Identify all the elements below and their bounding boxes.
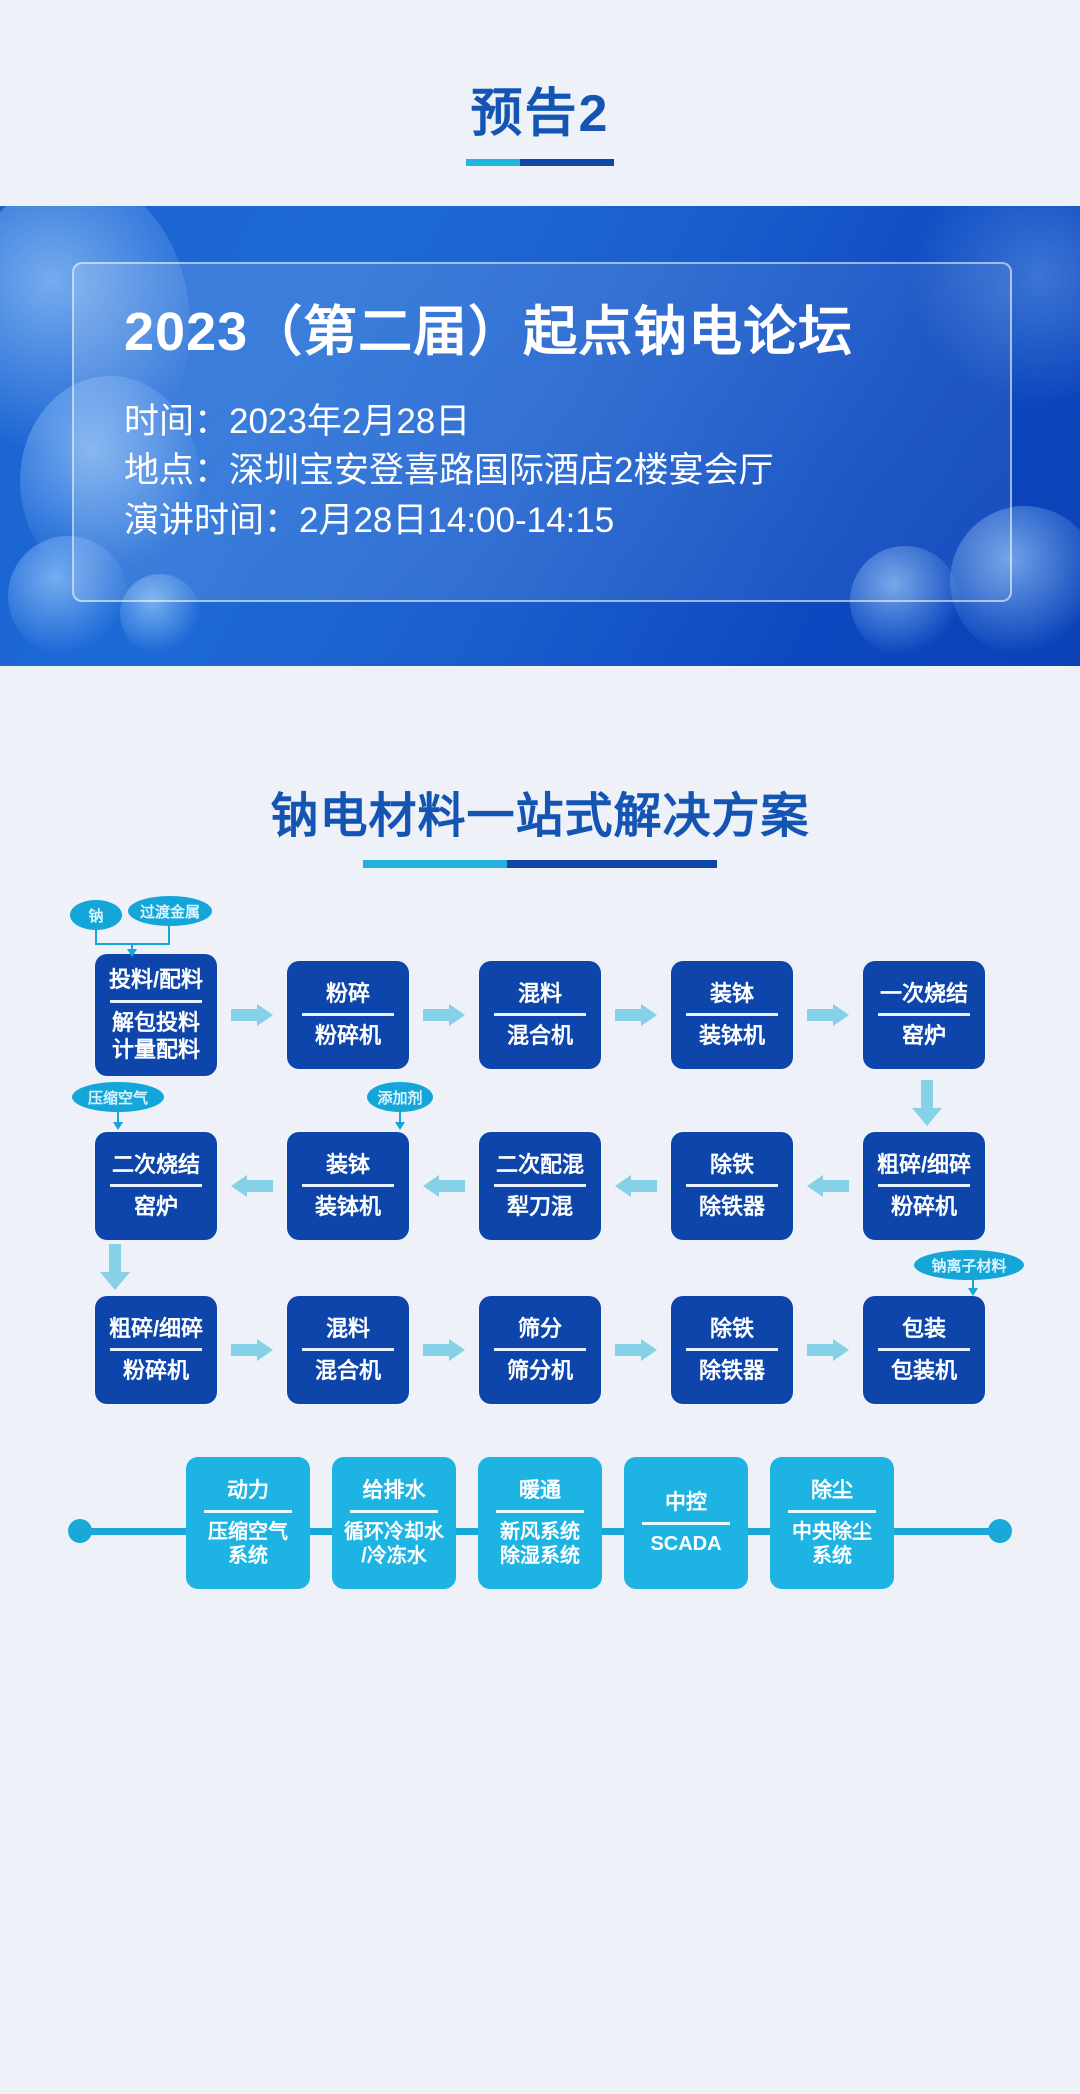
pill-sodium: 钠 <box>70 900 122 930</box>
section-title: 钠电材料一站式解决方案 <box>0 776 1080 846</box>
node-subtitle: 粉碎机 <box>891 1194 957 1220</box>
flow-node-second-sintering[interactable]: 二次烧结 窑炉 <box>95 1132 217 1240</box>
node-title: 混料 <box>326 1316 370 1342</box>
node-title: 二次配混 <box>496 1152 584 1178</box>
node-title: 粉碎 <box>326 981 370 1007</box>
event-banner: 2023（第二届）起点钠电论坛 时间：2023年2月28日 地点：深圳宝安登喜路… <box>0 206 1080 666</box>
node-subtitle: 除铁器 <box>699 1358 765 1384</box>
flow-node-sieving[interactable]: 筛分 筛分机 <box>479 1296 601 1404</box>
node-divider <box>110 1348 202 1351</box>
flow-node-feeding[interactable]: 投料/配料 解包投料 计量配料 <box>95 954 217 1076</box>
utility-subtitle: 新风系统 <box>500 1520 580 1544</box>
node-subtitle: 混合机 <box>315 1358 381 1384</box>
connector-arrow-icon <box>127 949 137 957</box>
section-header: 钠电材料一站式解决方案 <box>0 666 1080 868</box>
underline-segment-blue <box>520 159 614 166</box>
connector-arrow-icon <box>395 1122 405 1130</box>
node-divider <box>686 1184 778 1187</box>
arrow-right-icon <box>409 1339 479 1361</box>
node-divider <box>110 1184 202 1187</box>
event-venue-line: 地点：深圳宝安登喜路国际酒店2楼宴会厅 <box>124 446 966 496</box>
connector-arrow-icon <box>113 1122 123 1130</box>
flow-connector-row-2-3: 钠离子材料 <box>0 1240 1080 1296</box>
node-subtitle: 解包投料 <box>112 1010 200 1036</box>
node-subtitle: 计量配料 <box>112 1037 200 1063</box>
utility-central-control[interactable]: 中控 SCADA <box>624 1457 748 1589</box>
arrow-right-icon <box>217 1339 287 1361</box>
utility-subtitle: 除湿系统 <box>500 1544 580 1568</box>
node-subtitle: 混合机 <box>507 1023 573 1049</box>
node-divider <box>302 1013 394 1016</box>
flow-node-coarse-fine-crushing-2[interactable]: 粗碎/细碎 粉碎机 <box>95 1296 217 1404</box>
node-subtitle: 筛分机 <box>507 1358 573 1384</box>
node-subtitle: 除铁器 <box>699 1194 765 1220</box>
utility-title: 动力 <box>227 1478 269 1503</box>
arrow-right-icon <box>793 1004 863 1026</box>
node-divider <box>494 1184 586 1187</box>
node-subtitle: 窑炉 <box>134 1194 178 1220</box>
flow-row-2: 二次烧结 窑炉 装钵 装钵机 二次配混 犁刀混 除铁 除铁器 粗碎/细碎 粉碎机 <box>0 1132 1080 1240</box>
utility-divider <box>788 1510 876 1513</box>
flow-node-iron-removal[interactable]: 除铁 除铁器 <box>671 1132 793 1240</box>
utility-water-supply-drainage[interactable]: 给排水 循环冷却水 /冷冻水 <box>332 1457 456 1589</box>
node-divider <box>110 1000 202 1003</box>
utility-subtitle: /冷冻水 <box>361 1544 427 1568</box>
section-underline <box>0 860 1080 868</box>
pill-sodium-ion-material: 钠离子材料 <box>914 1250 1024 1280</box>
node-subtitle: 粉碎机 <box>315 1023 381 1049</box>
node-divider <box>494 1013 586 1016</box>
node-subtitle: 犁刀混 <box>507 1194 573 1220</box>
arrow-down-icon <box>100 1244 130 1292</box>
utility-divider <box>642 1522 730 1525</box>
flow-node-crushing[interactable]: 粉碎 粉碎机 <box>287 961 409 1069</box>
node-divider <box>686 1348 778 1351</box>
node-title: 除铁 <box>710 1152 754 1178</box>
event-title: 2023（第二届）起点钠电论坛 <box>124 302 966 362</box>
utility-endpoint-dot <box>68 1519 92 1543</box>
node-subtitle: 窑炉 <box>902 1023 946 1049</box>
arrow-left-icon <box>601 1175 671 1197</box>
utility-divider <box>496 1510 584 1513</box>
node-divider <box>302 1184 394 1187</box>
node-subtitle: 装钵机 <box>315 1194 381 1220</box>
flow-node-iron-removal-2[interactable]: 除铁 除铁器 <box>671 1296 793 1404</box>
node-title: 装钵 <box>710 981 754 1007</box>
arrow-right-icon <box>601 1004 671 1026</box>
flow-node-saggar-loading-2[interactable]: 装钵 装钵机 <box>287 1132 409 1240</box>
node-subtitle: 包装机 <box>891 1358 957 1384</box>
event-card: 2023（第二届）起点钠电论坛 时间：2023年2月28日 地点：深圳宝安登喜路… <box>72 262 1012 602</box>
utility-subtitle: 系统 <box>228 1544 268 1568</box>
node-title: 包装 <box>902 1316 946 1342</box>
utility-title: 给排水 <box>363 1478 426 1503</box>
utility-subtitle: 中央除尘 <box>792 1520 872 1544</box>
utility-subtitle: 压缩空气 <box>208 1520 288 1544</box>
utility-systems-bar: 动力 压缩空气 系统 给排水 循环冷却水 /冷冻水 暖通 新风系统 除湿系统 中… <box>0 1448 1080 1598</box>
arrow-left-icon <box>409 1175 479 1197</box>
node-title: 筛分 <box>518 1316 562 1342</box>
utility-endpoint-dot <box>988 1519 1012 1543</box>
node-divider <box>878 1348 970 1351</box>
node-title: 装钵 <box>326 1152 370 1178</box>
arrow-right-icon <box>793 1339 863 1361</box>
utility-title: 中控 <box>665 1490 707 1515</box>
flow-node-packaging[interactable]: 包装 包装机 <box>863 1296 985 1404</box>
flow-node-first-sintering[interactable]: 一次烧结 窑炉 <box>863 961 985 1069</box>
arrow-left-icon <box>793 1175 863 1197</box>
underline-segment-cyan <box>466 159 520 166</box>
page-header: 预告2 <box>0 0 1080 166</box>
utility-divider <box>350 1510 438 1513</box>
arrow-right-icon <box>217 1004 287 1026</box>
underline-segment-blue <box>507 860 717 868</box>
node-title: 除铁 <box>710 1316 754 1342</box>
utility-subtitle: SCADA <box>650 1532 721 1556</box>
node-divider <box>302 1348 394 1351</box>
event-details: 时间：2023年2月28日 地点：深圳宝安登喜路国际酒店2楼宴会厅 演讲时间：2… <box>124 397 966 546</box>
node-title: 一次烧结 <box>880 981 968 1007</box>
node-title: 粗碎/细碎 <box>877 1152 971 1178</box>
utility-subtitle: 循环冷却水 <box>344 1520 444 1544</box>
connector-line <box>95 930 97 944</box>
node-divider <box>878 1013 970 1016</box>
pill-compressed-air: 压缩空气 <box>72 1082 164 1112</box>
utility-subtitle: 系统 <box>812 1544 852 1568</box>
utility-dust-removal[interactable]: 除尘 中央除尘 系统 <box>770 1457 894 1589</box>
node-subtitle: 粉碎机 <box>123 1358 189 1384</box>
node-title: 混料 <box>518 981 562 1007</box>
flow-node-saggar-loading[interactable]: 装钵 装钵机 <box>671 961 793 1069</box>
pill-transition-metal: 过渡金属 <box>128 896 212 926</box>
event-date-line: 时间：2023年2月28日 <box>124 397 966 447</box>
utility-title: 暖通 <box>519 1478 561 1503</box>
flow-node-mixing[interactable]: 混料 混合机 <box>479 961 601 1069</box>
node-divider <box>878 1184 970 1187</box>
node-subtitle: 装钵机 <box>699 1023 765 1049</box>
flow-node-second-blending[interactable]: 二次配混 犁刀混 <box>479 1132 601 1240</box>
flow-node-coarse-fine-crushing[interactable]: 粗碎/细碎 粉碎机 <box>863 1132 985 1240</box>
flow-node-mixing-2[interactable]: 混料 混合机 <box>287 1296 409 1404</box>
arrow-right-icon <box>409 1004 479 1026</box>
node-title: 粗碎/细碎 <box>109 1316 203 1342</box>
flow-connector-row-1-2: 压缩空气 添加剂 <box>0 1076 1080 1132</box>
flow-row-3: 粗碎/细碎 粉碎机 混料 混合机 筛分 筛分机 除铁 除铁器 包装 包装机 <box>0 1296 1080 1404</box>
node-title: 投料/配料 <box>109 967 203 993</box>
utility-divider <box>204 1510 292 1513</box>
flow-row-1: 投料/配料 解包投料 计量配料 粉碎 粉碎机 混料 混合机 装钵 装钵机 一次烧… <box>0 954 1080 1076</box>
arrow-down-icon <box>912 1080 942 1128</box>
title-underline <box>0 159 1080 166</box>
utility-hvac[interactable]: 暖通 新风系统 除湿系统 <box>478 1457 602 1589</box>
node-title: 二次烧结 <box>112 1152 200 1178</box>
arrow-right-icon <box>601 1339 671 1361</box>
process-flow-diagram: 钠 过渡金属 投料/配料 解包投料 计量配料 粉碎 粉碎机 混料 混合机 装钵 <box>0 892 1080 1608</box>
node-divider <box>686 1013 778 1016</box>
node-divider <box>494 1348 586 1351</box>
arrow-left-icon <box>217 1175 287 1197</box>
utility-power[interactable]: 动力 压缩空气 系统 <box>186 1457 310 1589</box>
utility-title: 除尘 <box>811 1478 853 1503</box>
page-title: 预告2 <box>0 86 1080 143</box>
pill-additive: 添加剂 <box>367 1082 433 1112</box>
event-speech-time-line: 演讲时间：2月28日14:00-14:15 <box>124 496 966 546</box>
underline-segment-cyan <box>363 860 507 868</box>
connector-arrow-icon <box>968 1288 978 1296</box>
raw-material-inputs: 钠 过渡金属 <box>0 892 1080 954</box>
connector-line <box>168 926 170 944</box>
